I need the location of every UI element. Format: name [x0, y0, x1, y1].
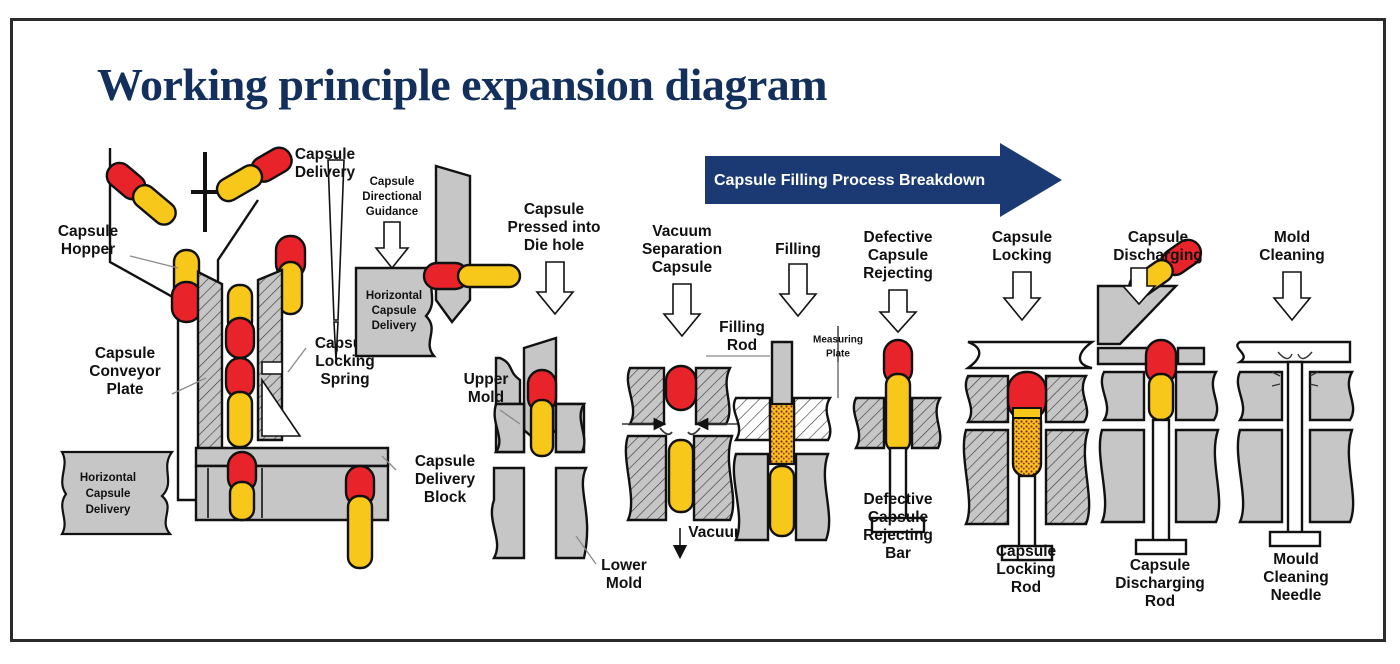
svg-text:Mold: Mold — [606, 575, 642, 592]
capsule-locked — [1008, 372, 1046, 476]
svg-text:Delivery: Delivery — [372, 320, 417, 332]
svg-text:Capsule: Capsule — [295, 146, 356, 163]
svg-text:Needle: Needle — [1271, 587, 1322, 604]
label-capsule-discharging-rod: Capsule Discharging Rod — [1115, 557, 1205, 610]
label-capsule-delivery: Capsule Delivery — [295, 146, 356, 181]
svg-text:Mould: Mould — [1273, 551, 1319, 568]
capsule-on-discharge-rod — [1146, 340, 1176, 420]
step-arrow-filling — [780, 264, 816, 316]
svg-text:Bar: Bar — [885, 545, 911, 562]
step-arrow-capsule-locking — [1004, 272, 1040, 320]
capsule-conveyor-stack — [226, 285, 254, 447]
label-defective-capsule-rejecting: Defective Capsule Rejecting — [863, 229, 933, 282]
svg-text:Plate: Plate — [106, 381, 143, 398]
section-capsule-locking — [964, 342, 1092, 560]
svg-text:Capsule: Capsule — [372, 305, 417, 317]
svg-text:Mold: Mold — [468, 389, 504, 406]
svg-text:Rod: Rod — [1011, 579, 1041, 596]
svg-text:Spring: Spring — [320, 371, 369, 388]
label-filling: Filling — [775, 241, 821, 258]
svg-text:Block: Block — [424, 489, 467, 506]
label-mould-cleaning-needle: Mould Cleaning Needle — [1263, 551, 1328, 604]
label-capsule-conveyor-plate: Capsule Conveyor Plate — [89, 345, 206, 398]
svg-text:Locking: Locking — [996, 561, 1055, 578]
step-arrow-pressed-into-die — [537, 262, 573, 314]
svg-text:Capsule: Capsule — [868, 509, 929, 526]
section-capsule-delivery — [328, 160, 520, 360]
svg-text:Delivery: Delivery — [295, 164, 356, 181]
svg-text:Horizontal: Horizontal — [366, 290, 422, 302]
label-capsule-delivery-block: Capsule Delivery Block — [382, 453, 476, 506]
svg-text:Discharging: Discharging — [1115, 575, 1205, 592]
svg-text:Die hole: Die hole — [524, 237, 585, 254]
svg-text:Capsule: Capsule — [415, 453, 476, 470]
svg-text:Locking: Locking — [992, 247, 1051, 264]
label-capsule-locking: Capsule Locking — [992, 229, 1053, 264]
svg-text:Delivery: Delivery — [86, 504, 131, 516]
label-capsule-locking-rod: Capsule Locking Rod — [996, 543, 1057, 596]
label-vacuum-separation-capsule: Vacuum Separation Capsule — [642, 223, 722, 276]
svg-text:Rod: Rod — [727, 337, 757, 354]
capsule-horizontal-push — [424, 263, 520, 289]
svg-text:Capsule: Capsule — [868, 247, 929, 264]
label-measuring-plate: Measuring Plate — [813, 335, 863, 398]
svg-text:Horizontal: Horizontal — [80, 472, 136, 484]
step-arrow-vacuum-separation — [664, 284, 700, 336]
svg-text:Capsule: Capsule — [996, 543, 1057, 560]
svg-text:Hopper: Hopper — [61, 241, 115, 258]
svg-text:Measuring: Measuring — [813, 335, 863, 346]
svg-text:Capsule: Capsule — [992, 229, 1053, 246]
svg-text:Directional: Directional — [362, 191, 421, 203]
label-mold-cleaning: Mold Cleaning — [1259, 229, 1324, 264]
svg-text:Cleaning: Cleaning — [1263, 569, 1328, 586]
label-capsule-directional-guidance: Capsule Directional Guidance — [362, 176, 421, 218]
label-defective-capsule-rejecting-bar: Defective Capsule Rejecting Bar — [863, 491, 933, 562]
capsule-body-filling — [770, 466, 794, 536]
process-banner-label: Capsule Filling Process Breakdown — [714, 172, 985, 189]
section-mold-cleaning — [1237, 342, 1353, 546]
label-capsule-pressed-into-die-hole: Capsule Pressed into Die hole — [507, 201, 600, 254]
capsule-pressed — [528, 370, 556, 456]
svg-text:Plate: Plate — [826, 349, 850, 360]
step-arrow-directional-guidance — [376, 222, 408, 268]
svg-text:Mold: Mold — [1274, 229, 1310, 246]
svg-text:Vacuum: Vacuum — [652, 223, 711, 240]
svg-text:Capsule: Capsule — [95, 345, 156, 362]
cleaning-needle-shaft — [1288, 362, 1302, 544]
svg-text:Discharging: Discharging — [1113, 247, 1203, 264]
label-filling-rod: Filling Rod — [706, 319, 770, 356]
svg-text:Cleaning: Cleaning — [1259, 247, 1324, 264]
svg-text:Filling: Filling — [719, 319, 765, 336]
capsule-hopper-capsule-2 — [212, 143, 296, 206]
svg-text:Capsule: Capsule — [1130, 557, 1191, 574]
svg-text:Pressed into: Pressed into — [507, 219, 600, 236]
svg-text:Filling: Filling — [775, 241, 821, 258]
step-arrow-defective-rejecting — [880, 290, 916, 332]
svg-text:Capsule: Capsule — [370, 176, 415, 188]
capsule-vertical-1 — [172, 250, 201, 322]
section-filling — [734, 326, 838, 540]
svg-text:Guidance: Guidance — [366, 206, 418, 218]
capsule-defective — [884, 340, 912, 452]
svg-text:Capsule: Capsule — [86, 488, 131, 500]
working-principle-diagram: Working principle expansion diagram Caps… — [0, 0, 1400, 664]
svg-text:Capsule: Capsule — [1128, 229, 1189, 246]
capsule-in-block — [228, 452, 256, 520]
svg-text:Separation: Separation — [642, 241, 722, 258]
powder-slug — [770, 404, 794, 464]
svg-text:Defective: Defective — [864, 491, 933, 508]
capsule-cap-separated — [666, 366, 696, 410]
capsule-hopper-capsule-1 — [102, 158, 181, 230]
step-arrow-mold-cleaning — [1274, 272, 1310, 320]
svg-text:Defective: Defective — [864, 229, 933, 246]
svg-text:Conveyor: Conveyor — [89, 363, 161, 380]
page-title: Working principle expansion diagram — [97, 59, 827, 110]
svg-text:Rejecting: Rejecting — [863, 265, 933, 282]
capsule-block-exit — [346, 466, 374, 568]
process-banner: Capsule Filling Process Breakdown — [705, 143, 1062, 217]
svg-text:Capsule: Capsule — [652, 259, 713, 276]
section-capsule-discharging — [1098, 235, 1219, 554]
label-capsule-discharging: Capsule Discharging — [1113, 229, 1203, 264]
svg-text:Upper: Upper — [464, 371, 509, 388]
svg-text:Capsule: Capsule — [524, 201, 585, 218]
label-capsule-hopper: Capsule Hopper — [58, 223, 178, 268]
svg-text:Rod: Rod — [1145, 593, 1175, 610]
capsule-body-separated — [669, 440, 693, 512]
svg-text:Delivery: Delivery — [415, 471, 476, 488]
label-horizontal-capsule-delivery-mid: Horizontal Capsule Delivery — [366, 290, 422, 332]
label-horizontal-capsule-delivery-left: Horizontal Capsule Delivery — [80, 472, 136, 516]
svg-text:Capsule: Capsule — [58, 223, 119, 240]
svg-text:Rejecting: Rejecting — [863, 527, 933, 544]
svg-text:Lower: Lower — [601, 557, 647, 574]
